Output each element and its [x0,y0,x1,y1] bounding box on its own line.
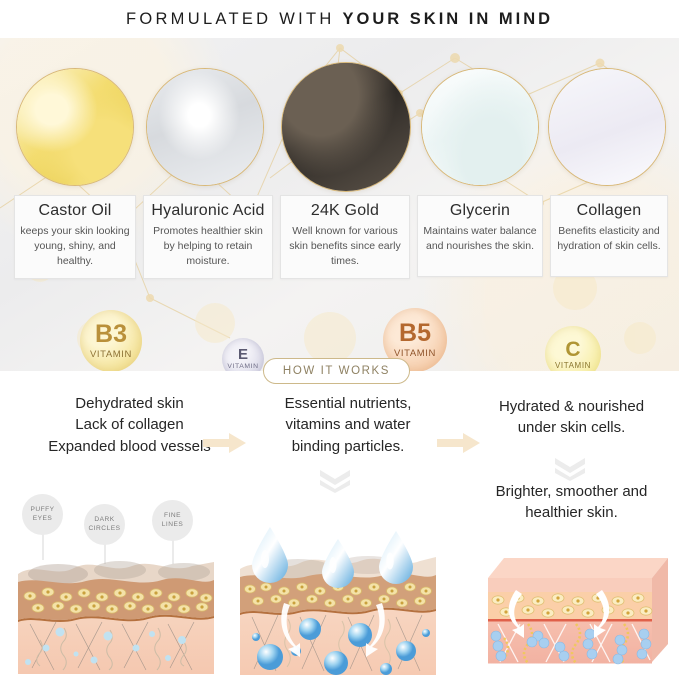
arrow-right-icon [437,432,481,454]
ingredient-image-collagen [548,68,666,186]
ingredient-card: 24K Gold Well known for various skin ben… [280,195,410,279]
ingredient-desc: keeps your skin looking young, shiny, an… [20,224,130,270]
ingredient-cards: Castor Oil keeps your skin looking young… [0,195,679,315]
ingredient-card: Collagen Benefits elasticity and hydrati… [550,195,668,277]
concern-label-line1: DARK [94,516,114,524]
ingredient-desc: Benefits elasticity and hydration of ski… [556,224,662,254]
ingredients-panel: Castor Oil keeps your skin looking young… [0,38,679,371]
skin-diagram-hydrated [470,548,670,676]
how-it-works-badge-label: HOW IT WORKS [283,365,390,377]
ingredient-desc: Well known for various skin benefits sin… [286,224,404,270]
vitamin-word: VITAMIN [227,364,258,371]
page-title: FORMULATED WITH YOUR SKIN IN MIND [126,10,553,29]
concern-label-line2: LINES [162,521,184,529]
ingredient-name: Hyaluronic Acid [149,202,267,220]
concern-label-line2: EYES [33,515,53,523]
page-title-light: FORMULATED WITH [126,10,343,28]
ingredient-name: 24K Gold [286,202,404,220]
ingredient-image-24k-gold [281,62,411,192]
concern-label-line2: CIRCLES [88,525,120,533]
concern-label-dark-circles: DARK CIRCLES [84,504,125,545]
ingredient-card: Hyaluronic Acid Promotes healthier skin … [143,195,273,279]
vitamin-letter: B3 [95,322,127,347]
vitamin-letter: E [238,347,248,362]
ingredient-image-glycerin [421,68,539,186]
concern-label-puffy-eyes: PUFFY EYES [22,494,63,535]
skin-diagram-dehydrated [16,548,216,676]
concern-label-fine-lines: FINE LINES [152,500,193,541]
header: FORMULATED WITH YOUR SKIN IN MIND [0,0,679,38]
concern-label-line1: FINE [164,512,181,520]
ingredient-name: Collagen [556,202,662,220]
skin-diagram-absorbing [238,525,438,677]
ingredient-card: Glycerin Maintains water balance and nou… [417,195,543,277]
ingredient-card: Castor Oil keeps your skin looking young… [14,195,136,279]
arrow-right-icon [203,432,247,454]
vitamin-badge-b3: B3 VITAMIN [80,310,142,371]
ingredient-circles [0,46,679,196]
vitamin-word: VITAMIN [394,349,436,359]
page-title-bold: YOUR SKIN IN MIND [343,10,554,28]
chevron-down-icon [553,456,587,482]
chevron-down-icon [318,468,352,494]
step-text-2: Essential nutrients,vitamins and waterbi… [258,393,438,457]
vitamin-word: VITAMIN [555,362,591,370]
ingredient-desc: Promotes healthier skin by helping to re… [149,224,267,270]
vitamin-badge-c: C VITAMIN [545,326,601,371]
concern-label-line1: PUFFY [30,506,54,514]
vitamin-badge-e: E VITAMIN [222,338,264,371]
vitamin-letter: C [565,339,580,360]
how-it-works-badge: HOW IT WORKS [263,358,410,384]
vitamin-word: VITAMIN [90,350,132,360]
step-text-3: Hydrated & nourishedunder skin cells. [464,396,679,439]
vitamin-letter: B5 [399,321,431,346]
ingredient-name: Glycerin [423,202,537,220]
ingredient-image-castor-oil [16,68,134,186]
ingredient-desc: Maintains water balance and nourishes th… [423,224,537,254]
ingredient-image-hyaluronic-acid [146,68,264,186]
step-text-4: Brighter, smoother andhealthier skin. [464,481,679,524]
product-infographic: FORMULATED WITH YOUR SKIN IN MIND [0,0,679,679]
ingredient-name: Castor Oil [20,202,130,220]
